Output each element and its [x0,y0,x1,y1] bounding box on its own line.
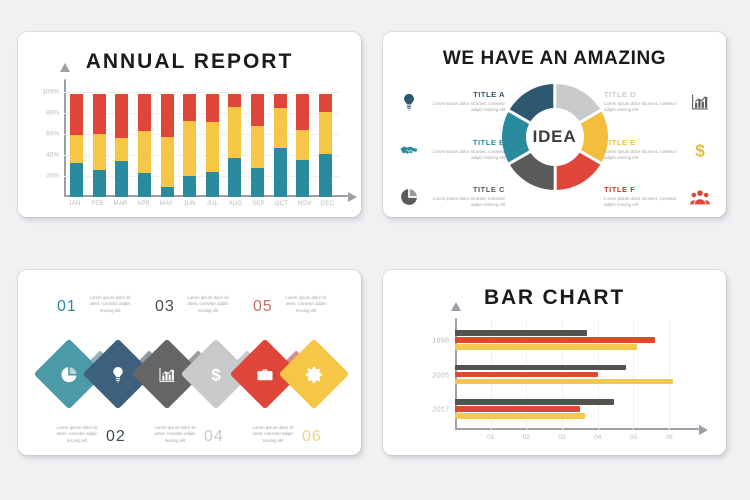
dollar-icon: $ [207,365,226,384]
feature-item-a[interactable]: TITLE ALorem ipsum dolor sit amet, conse… [397,90,509,114]
y-tick-label: 80% [46,110,59,117]
x-tick-label: 03 [558,434,565,441]
annual-report-plot: 20%40%60%80%100% JANFEBMARAPRMAYJUNJULAU… [64,87,336,197]
column-segment-red-top [70,94,83,135]
panel-amazing-idea[interactable]: WE HAVE AN AMAZING IDEA TITLE ALorem ips… [383,32,726,217]
y-tick-label: 40% [46,152,59,159]
column-segment-gold-middle [228,107,241,158]
column-segment-teal-bottom [183,176,196,197]
x-tick-label: 06 [666,434,673,441]
bar-red-series-2017[interactable] [455,406,580,412]
bar-group-2017: 2017 [455,399,687,420]
bar-gold-series-2005[interactable] [455,379,673,385]
slide-deck-canvas: ANNUAL REPORT 20%40%60%80%100% JANFEBMAR… [0,0,750,500]
column-segment-red-top [206,94,219,121]
column-segment-teal-bottom [296,160,309,197]
stacked-column[interactable] [274,87,287,197]
bar-chart-plot: 199820052017 010203040506 [455,326,687,430]
x-tick-label: 05 [630,434,637,441]
step-text-01: Lorem ipsum dolor sit amet, consetur adi… [84,295,136,314]
bar-chart-icon [688,90,712,114]
feature-body: Lorem ipsum dolor sit amet, consetur adi… [425,149,505,162]
x-axis-arrow-icon [699,425,708,435]
step-number-05: 05 [253,298,273,316]
feature-text: TITLE CLorem ipsum dolor sit amet, conse… [421,185,509,208]
dollar-icon: $ [688,138,712,162]
step-text-02: Lorem ipsum dolor sit amet, consetur adi… [51,425,103,444]
feature-item-b[interactable]: TITLE BLorem ipsum dolor sit amet, conse… [397,138,509,162]
stacked-column[interactable] [251,87,264,197]
step-number-06: 06 [302,428,322,446]
x-tick-label: 04 [594,434,601,441]
feature-text: TITLE ELorem ipsum dolor sit amet, conse… [600,138,688,161]
column-segment-teal-bottom [319,154,332,197]
x-tick-label: OCT [273,201,290,207]
annual-x-tick-labels: JANFEBMARAPRMAYJUNJULAUGSEPOCTNOVDEC [64,201,336,207]
column-segment-gold-middle [319,112,332,154]
x-axis-arrow-icon [348,192,357,202]
x-tick-label: JAN [66,201,83,207]
panel-bar-chart[interactable]: BAR CHART 199820052017 010203040506 [383,270,726,455]
bar-gray-series-2005[interactable] [455,365,626,371]
step-number-04: 04 [204,428,224,446]
feature-item-f[interactable]: TITLE FLorem ipsum dolor sit amet, conse… [600,185,712,209]
column-segment-red-top [228,94,241,107]
column-segment-gold-middle [161,137,174,186]
column-segment-gold-middle [115,138,128,161]
feature-title: TITLE F [604,185,684,194]
svg-text:$: $ [211,365,220,384]
x-tick-label: 02 [523,434,530,441]
feature-title: TITLE A [425,90,505,99]
stacked-column[interactable] [206,87,219,197]
stacked-column[interactable] [138,87,151,197]
feature-item-d[interactable]: TITLE DLorem ipsum dolor sit amet, conse… [600,90,712,114]
feature-text: TITLE BLorem ipsum dolor sit amet, conse… [421,138,509,161]
stacked-column[interactable] [183,87,196,197]
x-tick-label: AUG [227,201,244,207]
donut-center: IDEA [526,108,584,166]
step-number-02: 02 [106,428,126,446]
feature-body: Lorem ipsum dolor sit amet, consetur adi… [604,196,684,209]
x-tick-label: SEP [250,201,267,207]
column-segment-gold-middle [138,131,151,173]
feature-body: Lorem ipsum dolor sit amet, consetur adi… [604,149,684,162]
y-tick-label: 2017 [432,405,449,414]
column-segment-gold-middle [93,134,106,170]
column-segment-red-top [296,94,309,130]
stacked-column[interactable] [93,87,106,197]
feature-item-c[interactable]: TITLE CLorem ipsum dolor sit amet, conse… [397,185,509,209]
panel-process-steps[interactable]: 01Lorem ipsum dolor sit amet, consetur a… [18,270,361,455]
feature-title: TITLE B [425,138,505,147]
stacked-column[interactable] [70,87,83,197]
x-tick-label: APR [135,201,152,207]
column-segment-red-top [115,94,128,138]
people-icon [688,185,712,209]
bar-gray-series-1998[interactable] [455,330,587,336]
x-tick-label: DEC [319,201,336,207]
step-text-06: Lorem ipsum dolor sit amet, consetur adi… [247,425,299,444]
step-diamond-06[interactable] [279,339,350,410]
x-tick-label: JUL [204,201,221,207]
stacked-column[interactable] [319,87,332,197]
column-segment-red-top [93,94,106,134]
column-segment-gold-middle [70,135,83,163]
y-tick-label: 20% [46,173,59,180]
column-segment-teal-bottom [206,172,219,197]
stacked-column[interactable] [228,87,241,197]
y-tick-label: 60% [46,131,59,138]
idea-donut-chart[interactable]: IDEA [502,84,608,190]
column-segment-gold-middle [251,126,264,168]
donut-center-label: IDEA [533,127,577,147]
column-segment-gold-middle [183,121,196,177]
y-tick-label: 2005 [432,370,449,379]
step-text-05: Lorem ipsum dolor sit amet, consetur adi… [280,295,332,314]
stacked-column[interactable] [161,87,174,197]
column-segment-teal-bottom [251,168,264,197]
stacked-column[interactable] [296,87,309,197]
feature-body: Lorem ipsum dolor sit amet, consetur adi… [604,101,684,114]
briefcase-icon [256,365,275,384]
step-number-01: 01 [57,298,77,316]
column-segment-teal-bottom [161,187,174,197]
column-segment-teal-bottom [70,163,83,197]
x-tick-label: FEB [89,201,106,207]
column-segment-teal-bottom [138,173,151,197]
annual-column-group [64,87,336,197]
bar-group-2005: 2005 [455,365,687,386]
column-segment-teal-bottom [274,148,287,197]
y-axis-arrow-icon [60,63,70,72]
lightbulb-icon [397,90,421,114]
stacked-column[interactable] [115,87,128,197]
feature-title: TITLE E [604,138,684,147]
column-segment-red-top [138,94,151,131]
x-tick-label: NOV [296,201,313,207]
process-steps-row: 01Lorem ipsum dolor sit amet, consetur a… [44,340,336,408]
column-segment-gold-middle [296,130,309,160]
bar-red-series-2005[interactable] [455,372,598,378]
gear-icon [305,365,324,384]
x-tick-label: 01 [487,434,494,441]
y-axis-arrow-icon [451,302,461,311]
bar-red-series-1998[interactable] [455,337,655,343]
feature-title: TITLE C [425,185,505,194]
feature-body: Lorem ipsum dolor sit amet, consetur adi… [425,101,505,114]
feature-title: TITLE D [604,90,684,99]
column-segment-red-top [319,94,332,112]
step-text-03: Lorem ipsum dolor sit amet, consetur adi… [182,295,234,314]
x-tick-label: MAR [112,201,129,207]
panel-annual-report[interactable]: ANNUAL REPORT 20%40%60%80%100% JANFEBMAR… [18,32,361,217]
pie-chart-icon [60,365,79,384]
y-tick-label: 1998 [432,336,449,345]
bar-gold-series-1998[interactable] [455,344,637,350]
pie-chart-icon [397,185,421,209]
column-segment-red-top [183,94,196,120]
step-text-04: Lorem ipsum dolor sit amet, consetur adi… [149,425,201,444]
column-segment-teal-bottom [228,158,241,197]
feature-text: TITLE DLorem ipsum dolor sit amet, conse… [600,90,688,113]
column-segment-teal-bottom [115,161,128,197]
svg-text:$: $ [695,140,705,160]
column-segment-red-top [274,94,287,108]
column-segment-red-top [161,94,174,137]
feature-text: TITLE ALorem ipsum dolor sit amet, conse… [421,90,509,113]
bar-gold-series-2017[interactable] [455,413,585,419]
feature-body: Lorem ipsum dolor sit amet, consetur adi… [425,196,505,209]
amazing-title: WE HAVE AN AMAZING [383,48,726,70]
step-number-03: 03 [155,298,175,316]
x-tick-label: MAY [158,201,175,207]
handshake-icon [397,138,421,162]
column-segment-gold-middle [206,122,219,172]
bar-group-1998: 1998 [455,330,687,351]
column-segment-gold-middle [274,108,287,148]
feature-text: TITLE FLorem ipsum dolor sit amet, conse… [600,185,688,208]
column-segment-red-top [251,94,264,125]
y-tick-label: 100% [42,89,59,96]
bar-chart-icon [158,365,177,384]
lightbulb-icon [109,365,128,384]
feature-item-e[interactable]: $TITLE ELorem ipsum dolor sit amet, cons… [600,138,712,162]
bar-chart-title: BAR CHART [383,286,726,310]
x-tick-label: JUN [181,201,198,207]
column-segment-teal-bottom [93,170,106,197]
bar-gray-series-2017[interactable] [455,399,614,405]
